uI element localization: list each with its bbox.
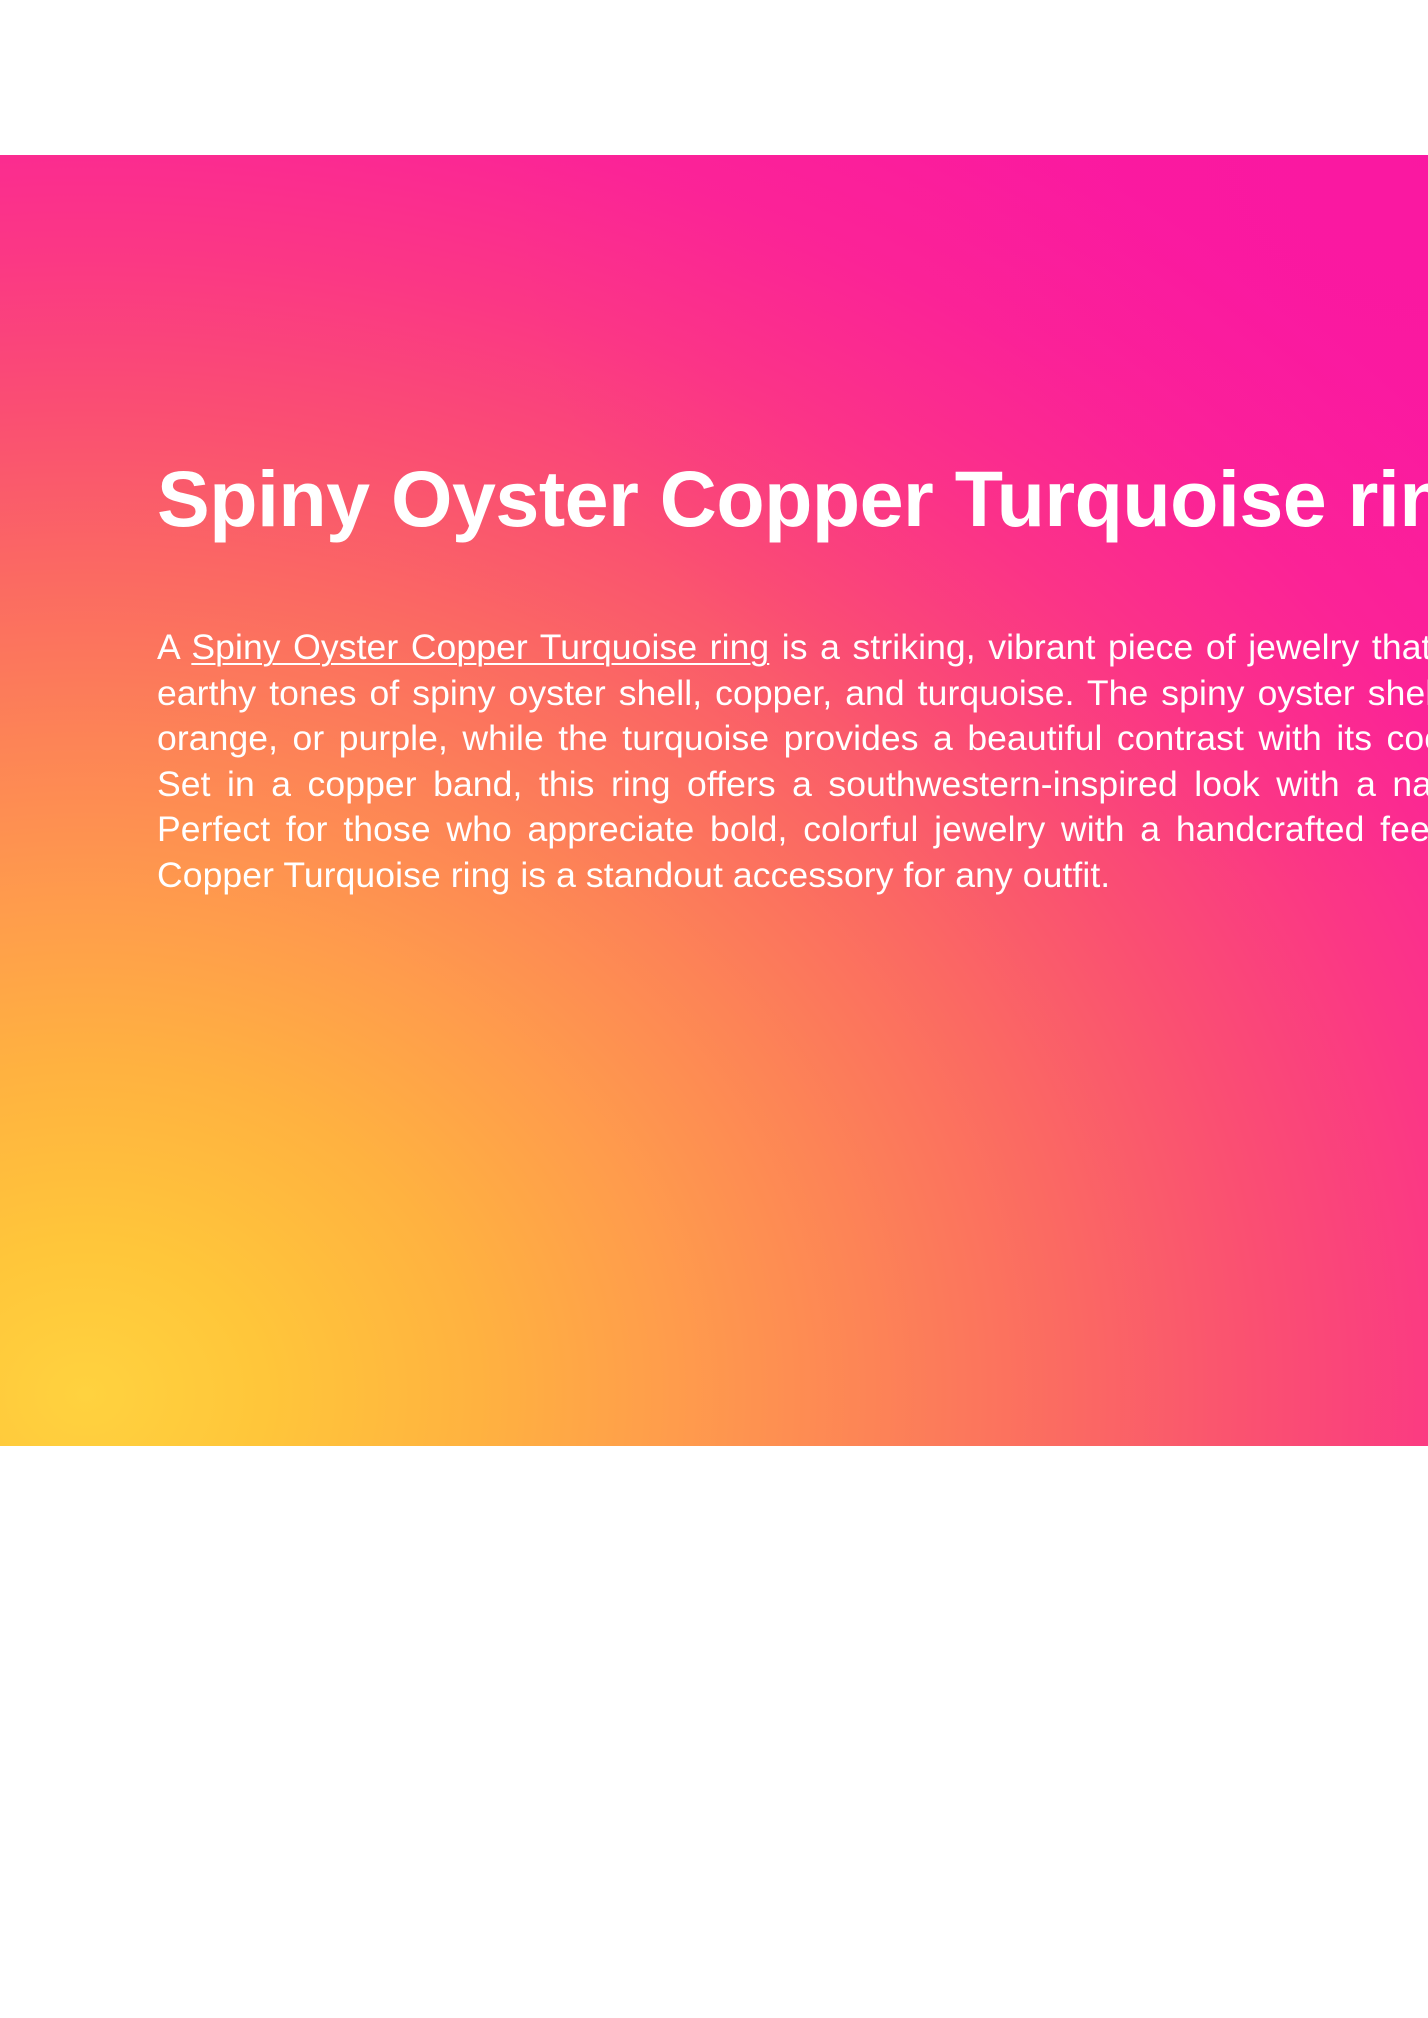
paragraph-lead-text: A: [157, 627, 191, 667]
bottom-white-gutter: [0, 1446, 1428, 2018]
hero-content-wrapper: Spiny Oyster Copper Turquoise ring A Spi…: [0, 155, 1428, 898]
hero-description-paragraph: A Spiny Oyster Copper Turquoise ring is …: [157, 543, 1428, 898]
page-root: Spiny Oyster Copper Turquoise ring A Spi…: [0, 0, 1428, 2018]
gradient-hero-section: Spiny Oyster Copper Turquoise ring A Spi…: [0, 155, 1428, 1446]
page-title: Spiny Oyster Copper Turquoise ring: [157, 155, 1428, 543]
paragraph-rest-text: is a striking, vibrant piece of jewelry …: [157, 627, 1428, 895]
top-white-gutter: [0, 0, 1428, 155]
spiny-oyster-copper-turquoise-ring-link[interactable]: Spiny Oyster Copper Turquoise ring: [191, 627, 769, 667]
